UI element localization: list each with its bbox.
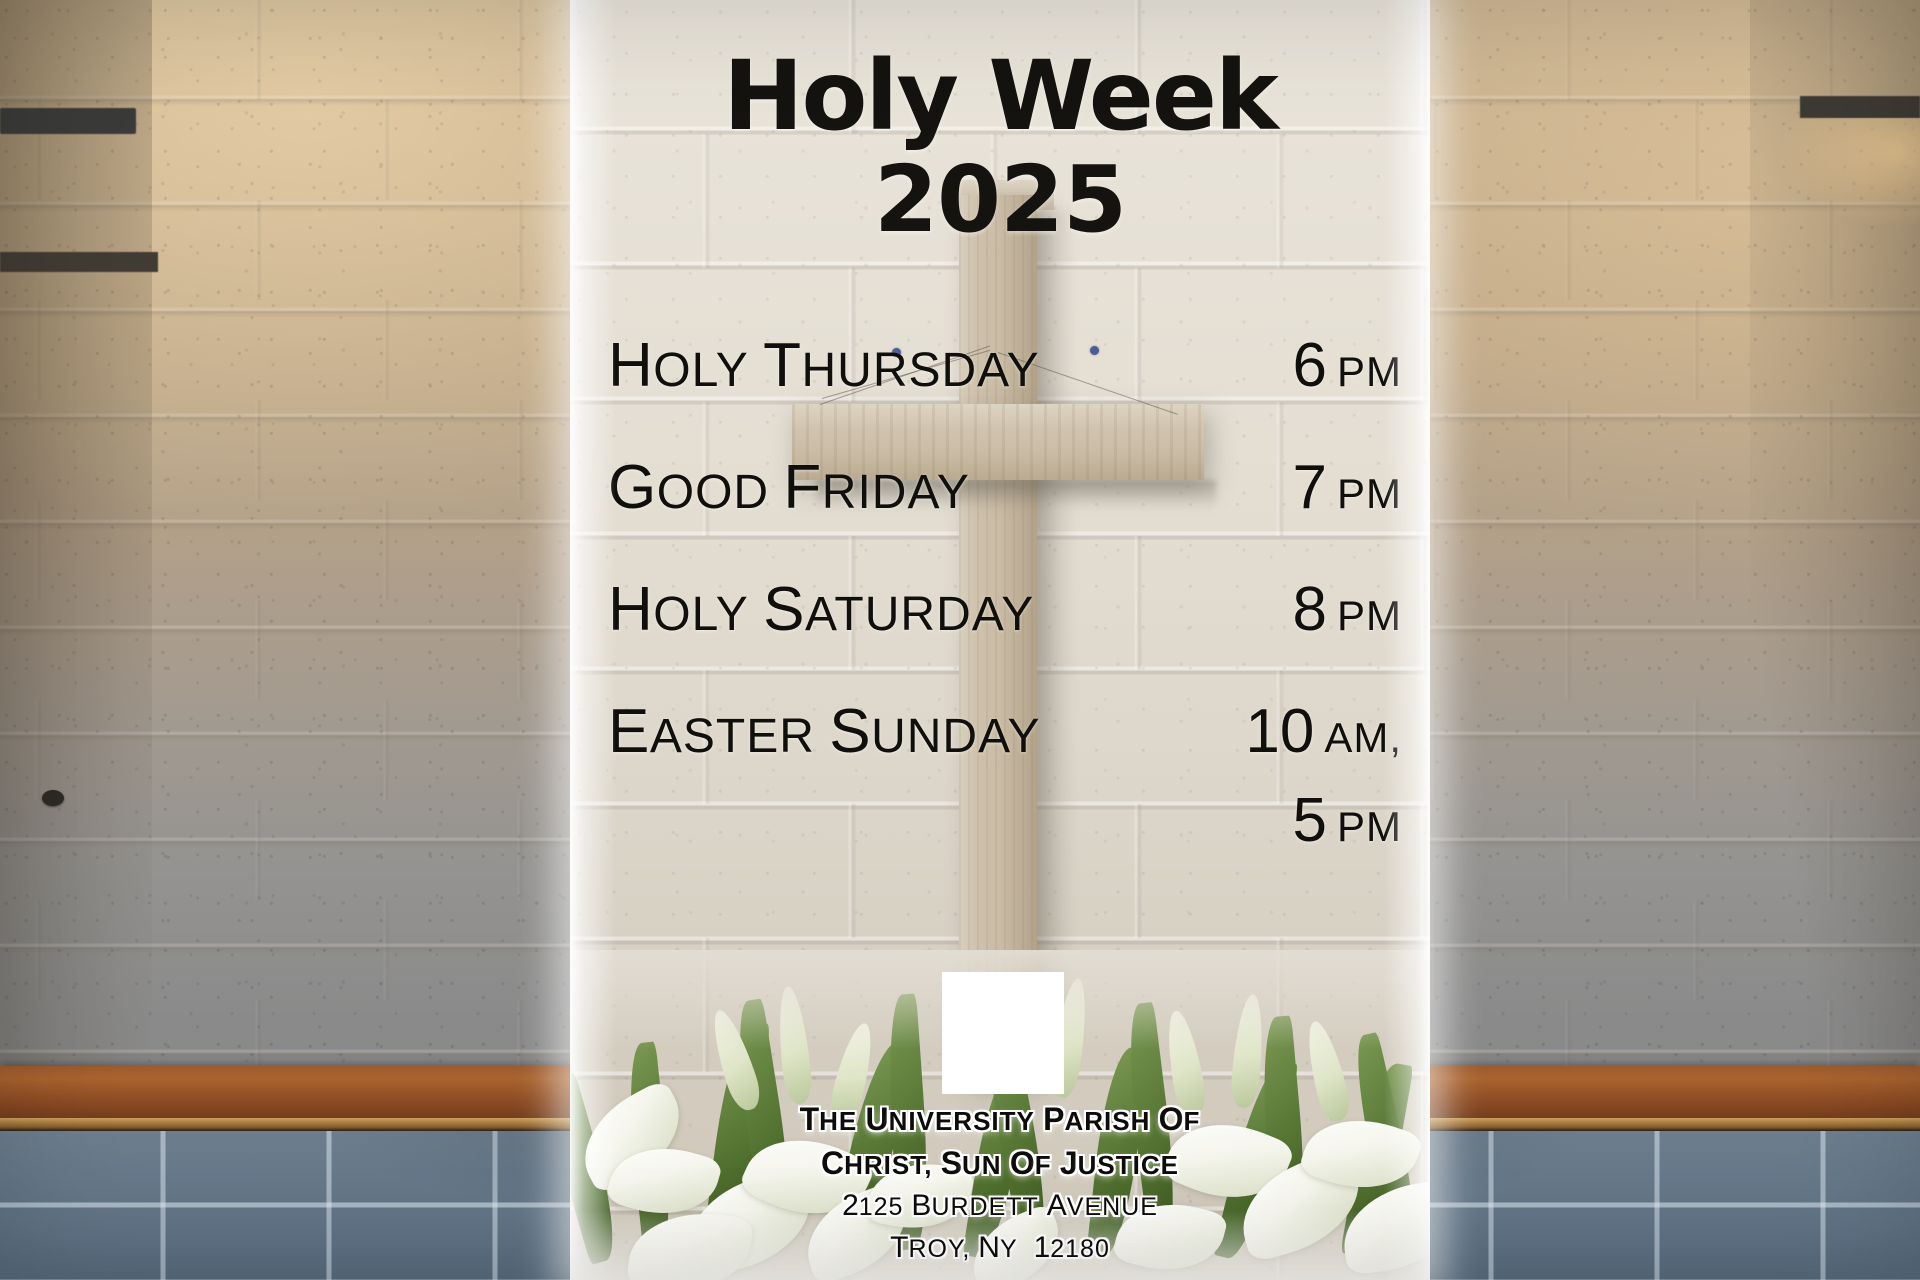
left-alcove-lintel	[0, 108, 136, 134]
right-jamb-warm-light	[1778, 118, 1920, 228]
schedule-time-secondary: 5PM	[1245, 785, 1402, 856]
schedule-row: HOLY THURSDAY6PM	[608, 330, 1402, 408]
qr-code-modules	[948, 978, 1058, 1088]
poster-title: Holy Week	[570, 48, 1430, 144]
poster-title-year: 2025	[570, 150, 1430, 249]
poster-content: Holy Week 2025 HOLY THURSDAY6PMGOOD FRID…	[570, 0, 1430, 1280]
wall-knob	[42, 790, 64, 806]
schedule-day-label: HOLY SATURDAY	[608, 574, 1034, 645]
left-alcove-shadow	[0, 0, 152, 1080]
parish-address-city: TROY, NY 12180	[570, 1230, 1430, 1267]
schedule-time-primary: 7PM	[1293, 452, 1402, 523]
schedule-row: EASTER SUNDAY10AM,5PM	[608, 696, 1402, 856]
schedule-day-label: GOOD FRIDAY	[608, 452, 970, 523]
schedule-time-group: 6PM	[1293, 330, 1402, 401]
service-schedule: HOLY THURSDAY6PMGOOD FRIDAY7PMHOLY SATUR…	[608, 330, 1402, 900]
schedule-day-label: HOLY THURSDAY	[608, 330, 1040, 401]
schedule-day-label: EASTER SUNDAY	[608, 696, 1041, 767]
schedule-time-group: 10AM,5PM	[1245, 696, 1402, 856]
schedule-row: GOOD FRIDAY7PM	[608, 452, 1402, 530]
schedule-row: HOLY SATURDAY8PM	[608, 574, 1402, 652]
parish-address-street: 2125 BURDETT AVENUE	[570, 1188, 1430, 1225]
schedule-time-primary: 8PM	[1293, 574, 1402, 645]
poster-title-block: Holy Week 2025	[570, 48, 1430, 249]
screenshot-stage: Holy Week 2025 HOLY THURSDAY6PMGOOD FRID…	[0, 0, 1920, 1280]
schedule-time-group: 7PM	[1293, 452, 1402, 523]
left-alcove-header	[0, 252, 158, 272]
parish-name-line-2: CHRIST, SUN OF JUSTICE	[570, 1144, 1430, 1183]
parish-name-line-1: THE UNIVERSITY PARISH OF	[570, 1100, 1430, 1139]
schedule-time-group: 8PM	[1293, 574, 1402, 645]
right-jamb-lintel	[1800, 96, 1920, 118]
parish-footer: THE UNIVERSITY PARISH OF CHRIST, SUN OF …	[570, 1100, 1430, 1271]
qr-code[interactable]	[942, 972, 1064, 1094]
holy-week-poster: Holy Week 2025 HOLY THURSDAY6PMGOOD FRID…	[570, 0, 1430, 1280]
schedule-time-primary: 10AM,	[1245, 696, 1402, 767]
schedule-time-primary: 6PM	[1293, 330, 1402, 401]
